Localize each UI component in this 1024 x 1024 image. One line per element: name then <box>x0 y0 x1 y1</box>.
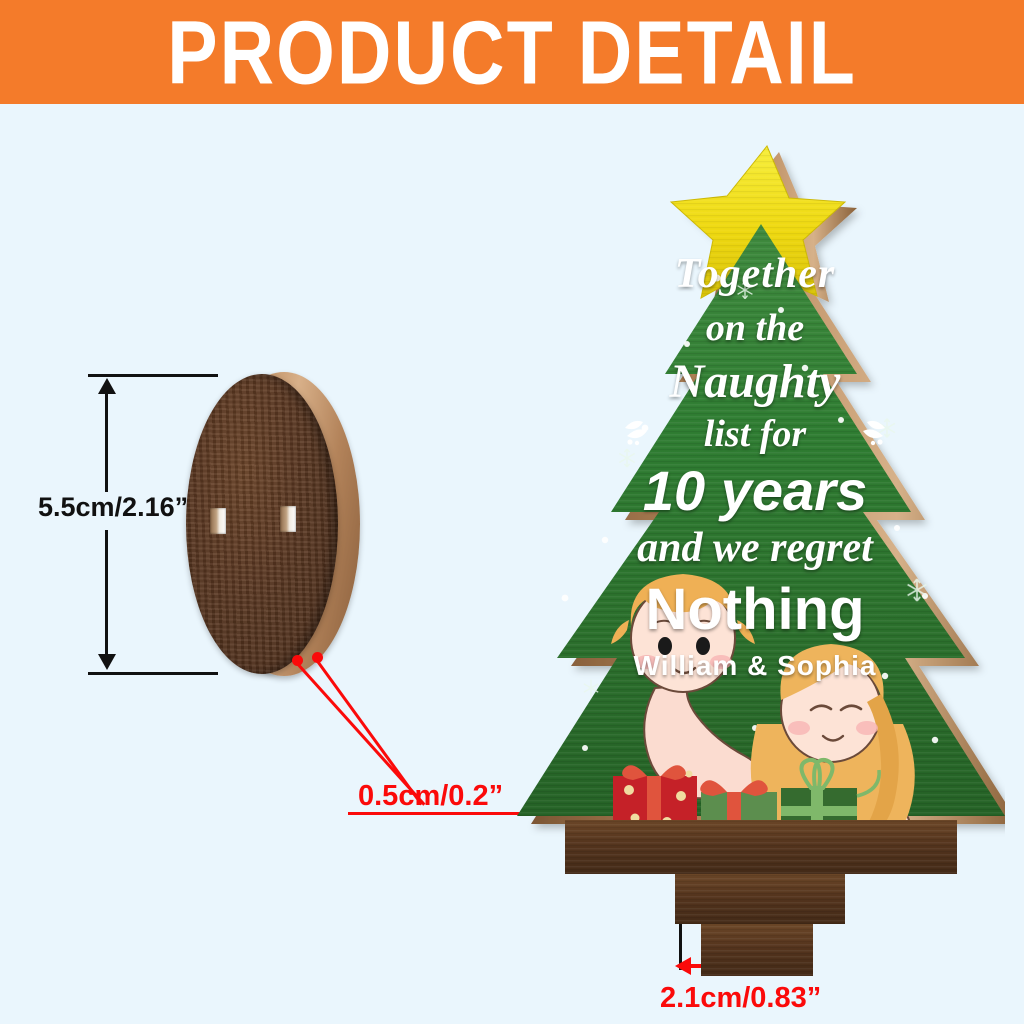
slot-left-icon <box>210 508 226 534</box>
extension-line-bottom <box>88 672 218 675</box>
arrow-down-icon <box>98 654 116 670</box>
dimension-line-upper <box>105 392 108 492</box>
extension-line-top <box>88 374 218 377</box>
slot-right-icon <box>280 506 296 532</box>
product-detail-page: PRODUCT DETAIL 5.5cm/2.16” 0.5cm/0.2” 2 <box>0 0 1024 1024</box>
tree-graphic <box>505 128 1005 988</box>
dimension-line-lower <box>105 530 108 654</box>
christmas-tree-ornament: Together on the Naughty list for 10 year… <box>505 128 1005 988</box>
oval-base-face <box>186 374 338 674</box>
thickness-dimension-label: 0.5cm/0.2” <box>358 780 503 813</box>
height-dimension-label: 5.5cm/2.16” <box>38 492 188 523</box>
header-banner: PRODUCT DETAIL <box>0 0 1024 104</box>
page-title: PRODUCT DETAIL <box>167 0 857 104</box>
wooden-stand <box>565 820 957 976</box>
oval-base-illustration <box>186 372 366 680</box>
